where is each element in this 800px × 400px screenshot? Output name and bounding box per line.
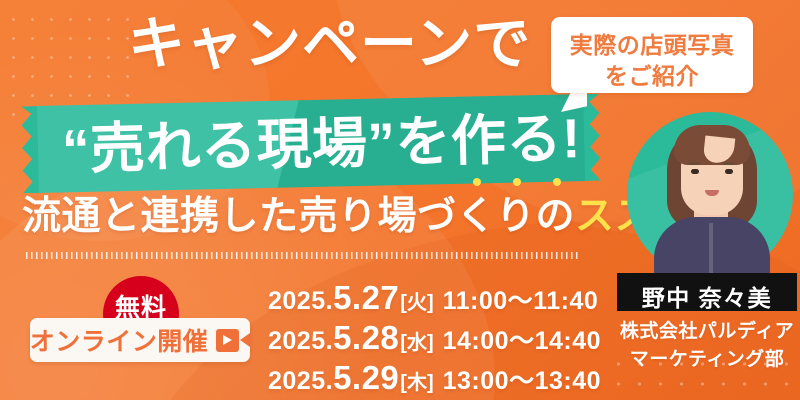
schedule-month-day: 5.28 <box>333 319 399 356</box>
speech-bubble-line-1: 実際の店頭写真 <box>551 26 753 60</box>
subheadline: 流通と連携した売り場づくりのススメ <box>22 193 694 241</box>
speaker-name: 野中 奈々美 <box>617 279 797 313</box>
schedule-month-day: 5.29 <box>333 359 399 396</box>
schedule-time: 14:00〜14:40 <box>443 327 601 355</box>
subheadline-prefix: 流通と連携した売り場づくりの <box>22 195 575 238</box>
schedule-list: 2025.5.27[火]11:00〜11:40 2025.5.28[水]14:0… <box>268 278 598 398</box>
ribbon-torn-edge-right <box>583 94 601 181</box>
dashed-separator <box>26 252 581 259</box>
speaker-company: 株式会社パルディア <box>607 316 800 343</box>
schedule-year: 2025. <box>268 367 333 395</box>
speaker-portrait <box>636 105 786 285</box>
online-event-label: オンライン開催 <box>30 322 209 358</box>
schedule-day-of-week: [木] <box>400 372 433 394</box>
emphasis-dots <box>473 178 583 192</box>
schedule-time: 13:00〜13:40 <box>443 367 601 395</box>
schedule-month-day: 5.27 <box>333 279 399 316</box>
schedule-row: 2025.5.29[木]13:00〜13:40 <box>268 358 598 398</box>
schedule-row: 2025.5.28[水]14:00〜14:40 <box>268 318 598 358</box>
headline-line-1: キャンペーンで <box>128 12 531 76</box>
schedule-year: 2025. <box>268 327 333 355</box>
webinar-banner: キャンペーンで “売れる現場”を作る! 流通と連携した売り場づくりのススメ 実際… <box>0 0 800 400</box>
online-event-badge: オンライン開催 <box>30 318 250 362</box>
ribbon-torn-edge-left <box>21 106 39 193</box>
schedule-row: 2025.5.27[火]11:00〜11:40 <box>268 278 598 318</box>
schedule-day-of-week: [火] <box>400 292 433 314</box>
schedule-day-of-week: [水] <box>400 332 433 354</box>
video-camera-icon <box>216 329 250 352</box>
schedule-year: 2025. <box>268 287 333 315</box>
speech-bubble: 実際の店頭写真 をご紹介 <box>551 17 753 93</box>
speaker-department: マーケティング部 <box>607 344 800 371</box>
headline-line-2: “売れる現場”を作る! <box>61 102 581 185</box>
speech-bubble-line-2: をご紹介 <box>551 57 753 91</box>
schedule-time: 11:00〜11:40 <box>443 287 599 315</box>
